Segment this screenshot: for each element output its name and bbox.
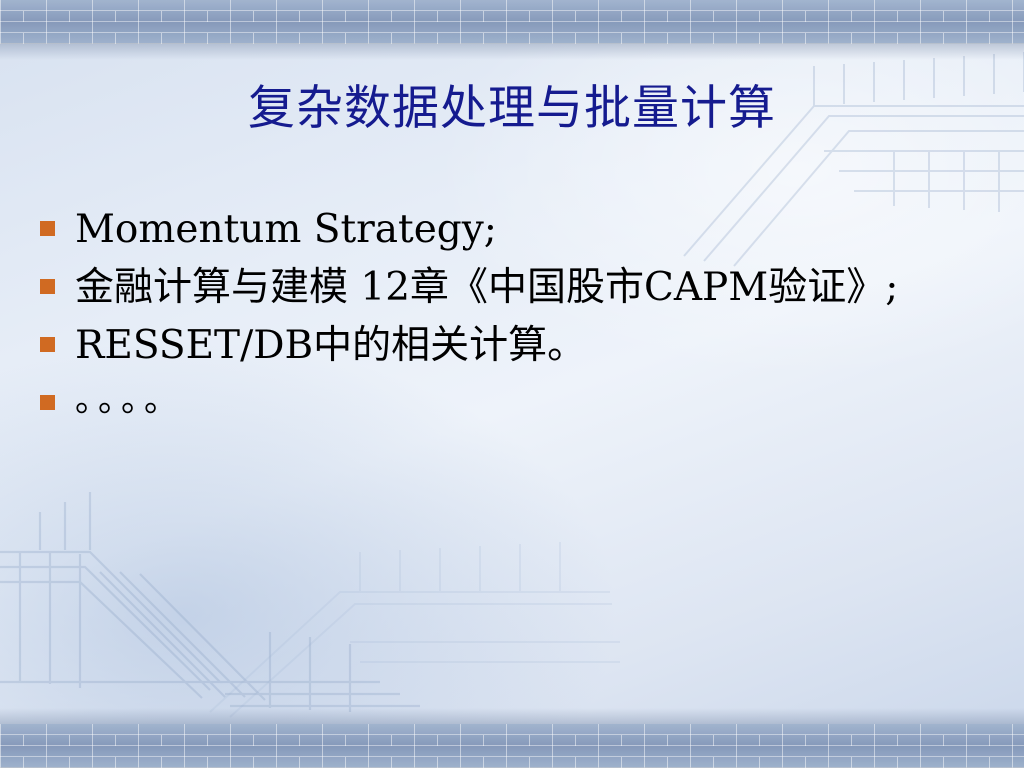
band-shadow-top — [0, 44, 1024, 60]
bullet-text: RESSET/DB中的相关计算。 — [75, 321, 970, 371]
bullet-text: 。。。。 — [75, 379, 970, 423]
square-bullet-icon — [40, 279, 55, 294]
list-item: 金融计算与建模 12章《中国股市CAPM验证》; — [40, 263, 970, 313]
square-bullet-icon — [40, 221, 55, 236]
bullet-text: Momentum Strategy; — [75, 205, 970, 255]
architecture-watermark-center — [200, 522, 620, 722]
brick-row-offset — [23, 757, 1024, 768]
architecture-watermark-left — [0, 432, 530, 722]
square-bullet-icon — [40, 337, 55, 352]
brick-row-offset — [23, 11, 1024, 22]
square-bullet-icon — [40, 395, 55, 410]
decorative-brick-band-bottom — [0, 724, 1024, 768]
bullet-text: 金融计算与建模 12章《中国股市CAPM验证》; — [75, 263, 970, 313]
list-item: 。。。。 — [40, 379, 970, 423]
slide-body: Momentum Strategy; 金融计算与建模 12章《中国股市CAPM验… — [40, 205, 970, 430]
presentation-slide: 复杂数据处理与批量计算 Momentum Strategy; 金融计算与建模 1… — [0, 0, 1024, 768]
band-shadow-bottom — [0, 708, 1024, 724]
slide-title: 复杂数据处理与批量计算 — [0, 82, 1024, 136]
list-item: Momentum Strategy; — [40, 205, 970, 255]
brick-row-offset — [23, 735, 1024, 746]
list-item: RESSET/DB中的相关计算。 — [40, 321, 970, 371]
brick-row-offset — [23, 33, 1024, 44]
decorative-brick-band-top — [0, 0, 1024, 44]
